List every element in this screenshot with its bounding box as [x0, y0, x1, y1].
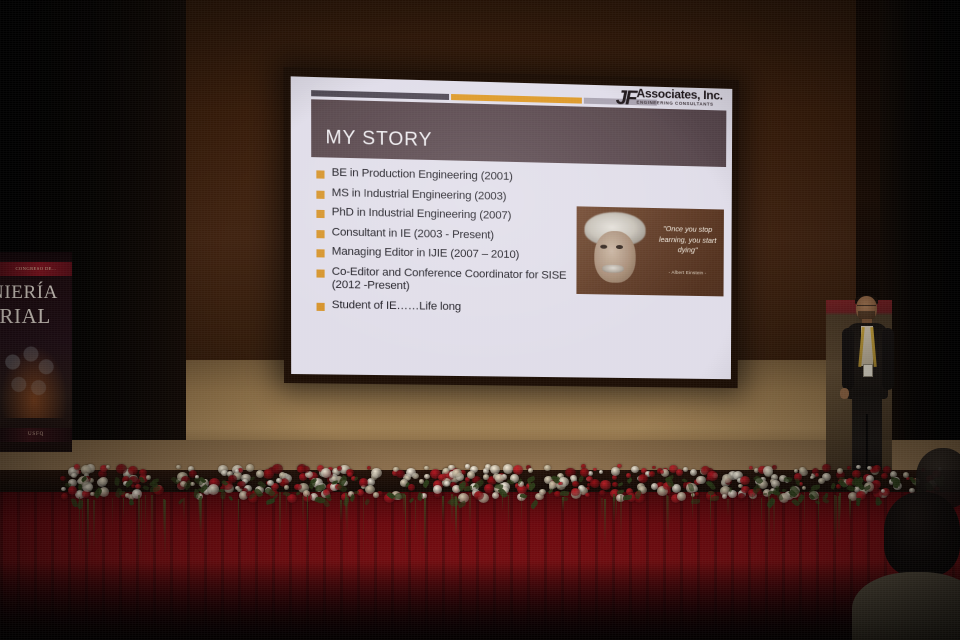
slide-title-band: MY STORY [311, 99, 726, 167]
bullet-square-icon [316, 269, 324, 277]
accent-segment-orange [451, 94, 582, 104]
bullet-text: Student of IE……Life long [332, 299, 461, 314]
slide-bullet-item: MS in Industrial Engineering (2003) [316, 186, 577, 205]
bullet-square-icon [316, 210, 324, 218]
einstein-eye-left [600, 245, 607, 249]
bullet-square-icon [316, 190, 324, 198]
presenter-hand-left [840, 388, 849, 399]
slide-bullet-item: Co-Editor and Conference Coordinator for… [316, 265, 577, 296]
bullet-square-icon [317, 303, 325, 311]
bullet-square-icon [316, 230, 324, 238]
accent-segment-dark [311, 90, 449, 100]
projection-screen: JF Associates, Inc. ENGINEERING CONSULTA… [286, 74, 742, 386]
bullet-square-icon [316, 170, 324, 178]
einstein-eye-right [616, 245, 623, 249]
slide-bullet-item: PhD in Industrial Engineering (2007) [316, 206, 577, 225]
banner-title-line1: NIERÍA [0, 282, 58, 304]
banner-title-line2: TRIAL [0, 304, 51, 329]
banner-top-strip: CONGRESO DE... [0, 262, 72, 276]
presenter-arm-left [842, 328, 854, 390]
banner-hexagon-graphic [0, 338, 72, 418]
bullet-text: Co-Editor and Conference Coordinator for… [332, 266, 578, 297]
einstein-head [594, 231, 636, 283]
bullet-text: Consultant in IE (2003 - Present) [332, 226, 494, 242]
einstein-attribution: - Albert Einstein - [655, 270, 719, 276]
presenter [836, 296, 900, 492]
presentation-slide: JF Associates, Inc. ENGINEERING CONSULTA… [291, 76, 733, 379]
slide-bullet-item: Student of IE……Life long [317, 298, 578, 315]
presenter-badge [863, 364, 873, 377]
slide-title: MY STORY [325, 127, 432, 152]
einstein-quote-card: "Once you stop learning, you start dying… [576, 206, 724, 296]
bullet-text: Managing Editor in IJIE (2007 – 2010) [332, 246, 520, 263]
stage-skirt-shadow [0, 560, 960, 640]
bullet-text: BE in Production Engineering (2001) [332, 167, 513, 184]
banner-footer-text: USFQ [0, 432, 72, 437]
bullet-text: MS in Industrial Engineering (2003) [332, 187, 507, 204]
slide-bullet-item: Consultant in IE (2003 - Present) [316, 226, 577, 244]
logo-tagline: ENGINEERING CONSULTANTS [636, 100, 722, 107]
slide-bullet-list: BE in Production Engineering (2001)MS in… [316, 166, 577, 322]
bullet-text: PhD in Industrial Engineering (2007) [332, 206, 512, 223]
conference-photo: JF Associates, Inc. ENGINEERING CONSULTA… [0, 0, 960, 640]
bullet-square-icon [316, 250, 324, 258]
banner-top-text: CONGRESO DE... [0, 266, 72, 271]
audience-shoulders-foreground [852, 572, 960, 640]
slide-bullet-item: BE in Production Engineering (2001) [316, 166, 577, 185]
presenter-arm-right [882, 328, 894, 390]
presenter-glasses [857, 305, 876, 309]
einstein-portrait [580, 208, 649, 293]
audience-head-foreground [884, 492, 960, 576]
slide-bullet-item: Managing Editor in IJIE (2007 – 2010) [316, 246, 577, 264]
einstein-quote-text: "Once you stop learning, you start dying… [655, 224, 720, 256]
banner-footer-strip: USFQ [0, 428, 72, 442]
left-standing-banner: CONGRESO DE... NIERÍA TRIAL USFQ [0, 252, 72, 452]
logo-mark-jf: JF [615, 88, 635, 109]
einstein-moustache [602, 265, 624, 273]
